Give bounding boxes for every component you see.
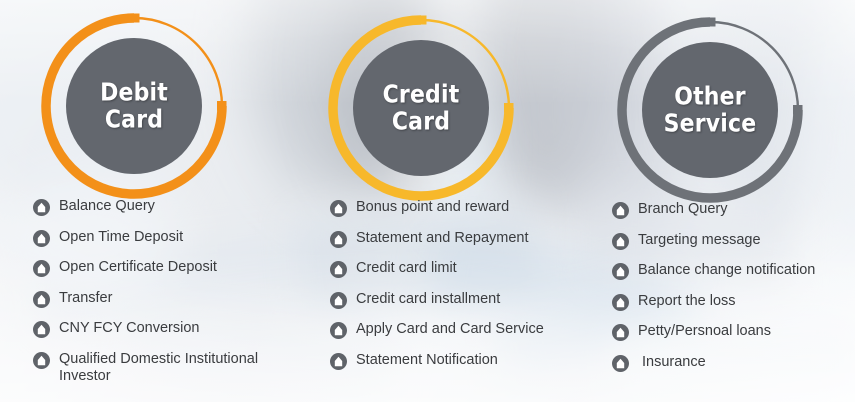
- chevron-up-circle-icon: [33, 199, 50, 216]
- list-item[interactable]: Open Time Deposit: [33, 229, 313, 247]
- category-badge-other-service[interactable]: Other Service: [614, 14, 806, 206]
- list-item-label: Open Certificate Deposit: [59, 259, 217, 276]
- chevron-up-circle-icon: [33, 352, 50, 369]
- list-item-label: Targeting message: [638, 232, 761, 249]
- list-item-label: Bonus point and reward: [356, 199, 509, 216]
- chevron-up-circle-icon: [612, 294, 629, 311]
- list-item[interactable]: Open Certificate Deposit: [33, 259, 313, 277]
- list-item[interactable]: Balance change notification: [612, 262, 855, 280]
- chevron-up-circle-icon: [33, 321, 50, 338]
- chevron-up-circle-icon: [612, 324, 629, 341]
- chevron-up-circle-icon: [330, 322, 347, 339]
- list-item[interactable]: Statement Notification: [330, 352, 610, 370]
- list-item[interactable]: Statement and Repayment: [330, 230, 610, 248]
- list-item[interactable]: Bonus point and reward: [330, 199, 610, 217]
- list-item-label: Branch Query: [638, 201, 727, 218]
- chevron-up-circle-icon: [33, 230, 50, 247]
- chevron-up-circle-icon: [330, 292, 347, 309]
- chevron-up-circle-icon: [612, 202, 629, 219]
- list-item[interactable]: Branch Query: [612, 201, 855, 219]
- list-item-label: Open Time Deposit: [59, 229, 183, 246]
- list-item[interactable]: Transfer: [33, 290, 313, 308]
- chevron-up-circle-icon: [330, 231, 347, 248]
- list-item-label: Balance change notification: [638, 262, 815, 279]
- list-item-label: Qualified Domestic Institutional Investo…: [59, 351, 258, 385]
- chevron-up-circle-icon: [330, 200, 347, 217]
- list-item-label: Transfer: [59, 290, 112, 307]
- list-item-label: Statement and Repayment: [356, 230, 529, 247]
- chevron-up-circle-icon: [33, 260, 50, 277]
- category-badge-credit-card[interactable]: Credit Card: [325, 12, 517, 204]
- service-list-credit-card: Bonus point and reward Statement and Rep…: [330, 199, 610, 382]
- list-item-label: Statement Notification: [356, 352, 498, 369]
- other-service-ring-graphic: [614, 14, 806, 206]
- list-item[interactable]: Credit card installment: [330, 291, 610, 309]
- list-item[interactable]: Report the loss: [612, 293, 855, 311]
- chevron-up-circle-icon: [612, 263, 629, 280]
- list-item-label: Apply Card and Card Service: [356, 321, 544, 338]
- service-list-other-service: Branch Query Targeting message Balance c…: [612, 201, 855, 384]
- list-item-label: Insurance: [642, 354, 706, 371]
- list-item[interactable]: Apply Card and Card Service: [330, 321, 610, 339]
- list-item-label: Balance Query: [59, 198, 155, 215]
- chevron-up-circle-icon: [612, 355, 629, 372]
- service-list-debit-card: Balance Query Open Time Deposit Open Cer…: [33, 198, 313, 397]
- list-item[interactable]: Balance Query: [33, 198, 313, 216]
- list-item-label: Credit card installment: [356, 291, 500, 308]
- chevron-up-circle-icon: [330, 261, 347, 278]
- list-item-label: CNY FCY Conversion: [59, 320, 200, 337]
- chevron-up-circle-icon: [330, 353, 347, 370]
- list-item[interactable]: Qualified Domestic Institutional Investo…: [33, 351, 313, 385]
- chevron-up-circle-icon: [612, 233, 629, 250]
- list-item[interactable]: Petty/Persnoal loans: [612, 323, 855, 341]
- category-badge-debit-card[interactable]: Debit Card: [38, 10, 230, 202]
- list-item[interactable]: Insurance: [612, 354, 855, 372]
- list-item[interactable]: Targeting message: [612, 232, 855, 250]
- list-item[interactable]: CNY FCY Conversion: [33, 320, 313, 338]
- service-overview-banner: Debit Card Credit Card Other Service: [0, 0, 855, 402]
- list-item-label: Report the loss: [638, 293, 736, 310]
- list-item[interactable]: Credit card limit: [330, 260, 610, 278]
- credit-card-ring-graphic: [325, 12, 517, 204]
- list-item-label: Credit card limit: [356, 260, 457, 277]
- chevron-up-circle-icon: [33, 291, 50, 308]
- list-item-label: Petty/Persnoal loans: [638, 323, 771, 340]
- debit-card-ring-graphic: [38, 10, 230, 202]
